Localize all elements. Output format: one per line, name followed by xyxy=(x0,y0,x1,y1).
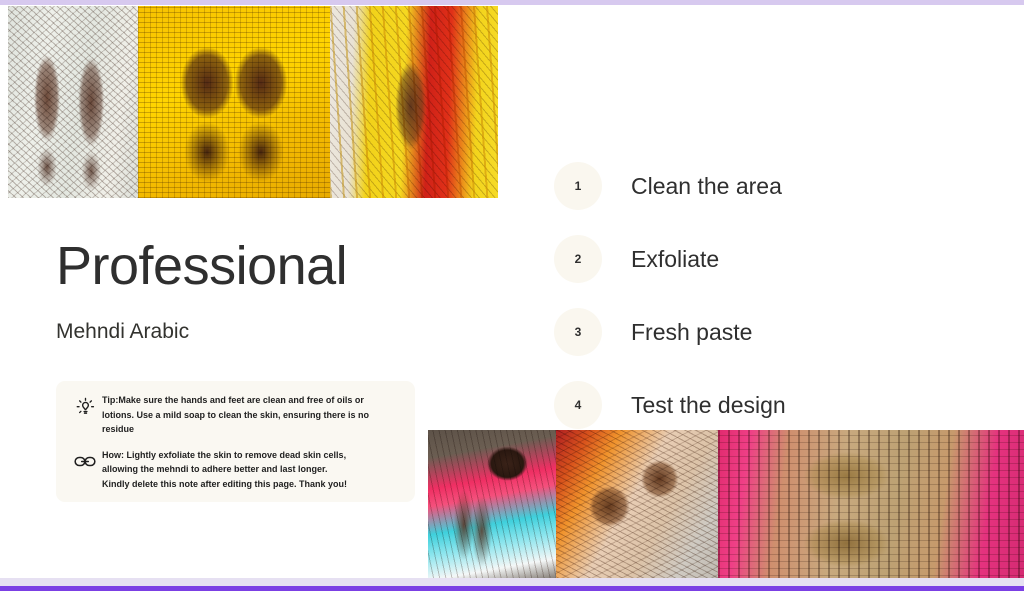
step-label: Exfoliate xyxy=(631,246,719,273)
gallery-strip-top xyxy=(8,6,498,198)
step-number-badge: 4 xyxy=(554,381,602,429)
mehndi-photo-arms-pale xyxy=(8,6,138,198)
step-item-3[interactable]: 3 Fresh paste xyxy=(554,308,752,356)
step-item-1[interactable]: 1 Clean the area xyxy=(554,162,782,210)
mehndi-photo-arm-festive xyxy=(330,6,498,198)
mehndi-photo-bridal-hands xyxy=(718,430,1024,583)
note-how-text: How: Lightly exfoliate the skin to remov… xyxy=(102,448,347,492)
link-icon xyxy=(68,448,102,474)
mehndi-photo-woman-seated xyxy=(428,430,556,583)
step-item-2[interactable]: 2 Exfoliate xyxy=(554,235,719,283)
slide-canvas: Professional Mehndi Arabic Tip:Make sure… xyxy=(0,0,1024,596)
editor-note-card: Tip:Make sure the hands and feet are cle… xyxy=(56,381,415,502)
mehndi-photo-feet xyxy=(556,430,718,583)
step-item-4[interactable]: 4 Test the design xyxy=(554,381,786,429)
note-row-tip: Tip:Make sure the hands and feet are cle… xyxy=(68,393,401,437)
mehndi-photo-hands-yellow xyxy=(138,6,330,198)
step-number-badge: 1 xyxy=(554,162,602,210)
page-title: Professional xyxy=(56,238,347,295)
step-label: Fresh paste xyxy=(631,319,752,346)
step-label: Test the design xyxy=(631,392,786,419)
step-label: Clean the area xyxy=(631,173,782,200)
step-number-badge: 2 xyxy=(554,235,602,283)
bottom-tail-band xyxy=(0,591,1024,596)
note-tip-text: Tip:Make sure the hands and feet are cle… xyxy=(102,393,369,437)
gallery-strip-bottom xyxy=(428,430,1024,583)
page-subtitle: Mehndi Arabic xyxy=(56,320,189,344)
note-row-how: How: Lightly exfoliate the skin to remov… xyxy=(68,448,401,492)
top-accent-bar xyxy=(0,0,1024,5)
step-number-badge: 3 xyxy=(554,308,602,356)
lightbulb-icon xyxy=(68,393,102,419)
bottom-soft-band xyxy=(0,578,1024,586)
